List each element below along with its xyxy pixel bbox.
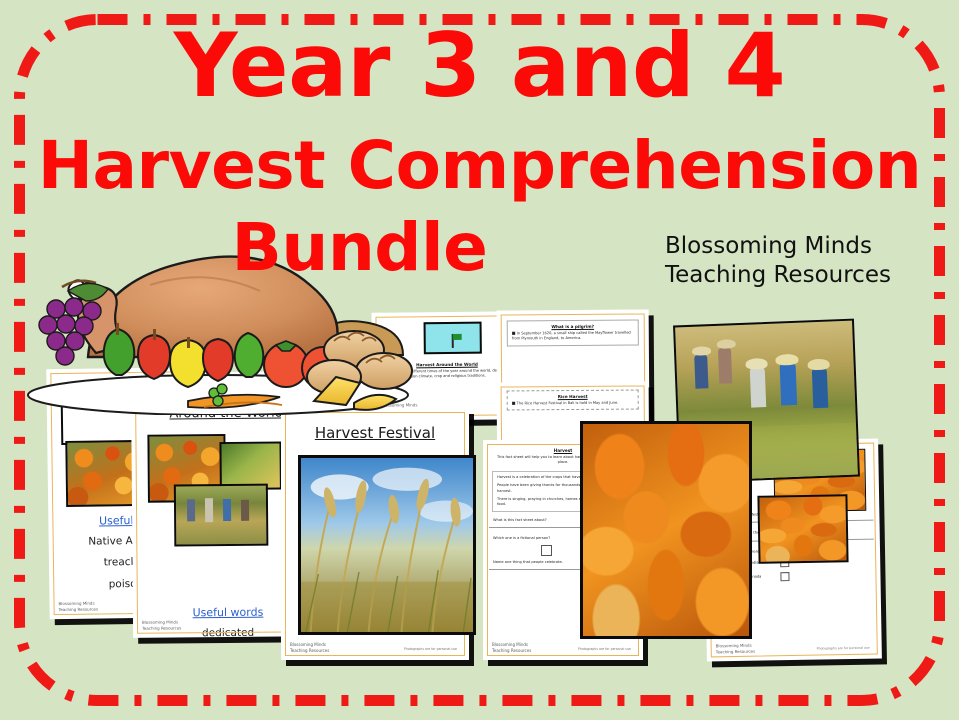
brand-line-2: Teaching Resources: [665, 261, 891, 290]
harvest-feast-illustration: [18, 225, 413, 415]
pumpkins-large-photo: [580, 421, 752, 639]
wheat-field-photo: [298, 455, 476, 635]
doc-title: Harvest Festival: [281, 424, 469, 442]
doc-body: ■ In September 1620, a small ship called…: [512, 329, 634, 343]
footer-credit: Blossoming MindsTeaching Resources: [716, 643, 755, 654]
teal-flag-photo: [424, 322, 482, 355]
title-line-2: Harvest Comprehension: [0, 133, 959, 199]
doc-body: ■ The Rice Harvest Festival in Bali is h…: [512, 399, 634, 407]
vegetables-photo: [219, 442, 281, 491]
footer-credit: Blossoming MindsTeaching Resources: [142, 620, 181, 631]
checkbox-right-2[interactable]: [780, 572, 789, 581]
footer-credit-right: Photographs are for personal use: [578, 647, 631, 651]
footer-credit-right: Photographs are for personal use: [404, 647, 457, 651]
footer-credit: Blossoming MindsTeaching Resources: [290, 642, 329, 653]
field-workers-photo: [174, 484, 269, 547]
brand-line-1: Blossoming Minds: [665, 232, 891, 261]
answer-checkbox[interactable]: [541, 545, 552, 556]
footer-credit-right: Photographs are for personal use: [817, 646, 870, 651]
pumpkin-photo-overlay: [757, 494, 848, 564]
title-line-1: Year 3 and 4: [0, 22, 959, 110]
brand-credit: Blossoming Minds Teaching Resources: [665, 232, 891, 289]
footer-credit: Blossoming MindsTeaching Resources: [59, 601, 98, 612]
footer-credit: Blossoming MindsTeaching Resources: [492, 642, 531, 653]
product-cover: Harvest Around the World Harvest falls a…: [0, 0, 959, 720]
